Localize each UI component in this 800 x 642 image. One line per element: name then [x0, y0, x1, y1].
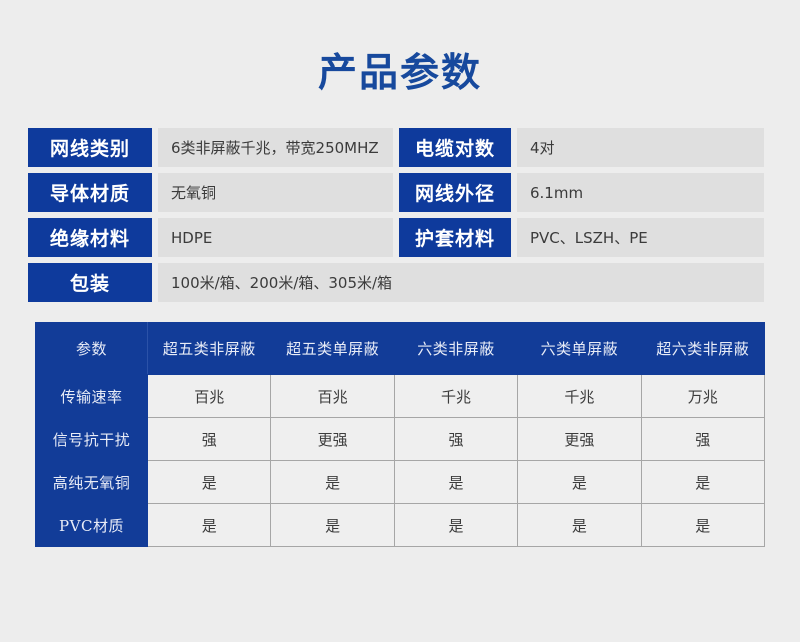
- table-row: 信号抗干扰 强 更强 强 更强 强: [36, 418, 765, 461]
- column-header-cat5e-ftp: 超五类单屏蔽: [271, 323, 394, 375]
- table-cell: 百兆: [148, 375, 271, 418]
- table-cell: 是: [271, 461, 394, 504]
- table-cell: 千兆: [394, 375, 517, 418]
- spec-label-conductor-material: 导体材质: [28, 173, 152, 212]
- comparison-table: 参数 超五类非屏蔽 超五类单屏蔽 六类非屏蔽 六类单屏蔽 超六类非屏蔽 传输速率…: [35, 322, 765, 547]
- spec-pair-left: 绝缘材料 HDPE: [28, 218, 393, 257]
- table-cell: 强: [394, 418, 517, 461]
- table-cell: 是: [394, 504, 517, 547]
- spec-label-jacket-material: 护套材料: [399, 218, 511, 257]
- spec-pair-right: 护套材料 PVC、LSZH、PE: [399, 218, 764, 257]
- table-cell: 是: [641, 461, 764, 504]
- table-cell: 更强: [271, 418, 394, 461]
- spec-label-pair-count: 电缆对数: [399, 128, 511, 167]
- column-header-parameter: 参数: [36, 323, 148, 375]
- table-row: 高纯无氧铜 是 是 是 是 是: [36, 461, 765, 504]
- spec-pair-right: 网线外径 6.1mm: [399, 173, 764, 212]
- table-row: 包装 100米/箱、200米/箱、305米/箱: [28, 263, 764, 302]
- column-header-cat6-utp: 六类非屏蔽: [394, 323, 517, 375]
- table-row: 传输速率 百兆 百兆 千兆 千兆 万兆: [36, 375, 765, 418]
- table-row: 绝缘材料 HDPE 护套材料 PVC、LSZH、PE: [28, 218, 764, 257]
- spec-value-insulation-material: HDPE: [158, 218, 393, 257]
- spec-value-jacket-material: PVC、LSZH、PE: [517, 218, 764, 257]
- table-cell: 是: [271, 504, 394, 547]
- table-cell: 更强: [518, 418, 641, 461]
- spec-label-packaging: 包装: [28, 263, 152, 302]
- spec-value-outer-diameter: 6.1mm: [517, 173, 764, 212]
- table-cell: 是: [518, 504, 641, 547]
- table-cell: 是: [148, 504, 271, 547]
- spec-label-outer-diameter: 网线外径: [399, 173, 511, 212]
- row-header-pvc-material: PVC材质: [36, 504, 148, 547]
- specification-table: 网线类别 6类非屏蔽千兆，带宽250MHZ 电缆对数 4对 导体材质 无氧铜 网…: [28, 128, 764, 302]
- column-header-cat6a-utp: 超六类非屏蔽: [641, 323, 764, 375]
- spec-value-cable-category: 6类非屏蔽千兆，带宽250MHZ: [158, 128, 393, 167]
- table-cell: 百兆: [271, 375, 394, 418]
- table-header-row: 参数 超五类非屏蔽 超五类单屏蔽 六类非屏蔽 六类单屏蔽 超六类非屏蔽: [36, 323, 765, 375]
- row-header-transmission-rate: 传输速率: [36, 375, 148, 418]
- table-row: PVC材质 是 是 是 是 是: [36, 504, 765, 547]
- spec-pair-left: 网线类别 6类非屏蔽千兆，带宽250MHZ: [28, 128, 393, 167]
- table-cell: 强: [148, 418, 271, 461]
- column-header-cat5e-utp: 超五类非屏蔽: [148, 323, 271, 375]
- spec-value-conductor-material: 无氧铜: [158, 173, 393, 212]
- column-header-cat6-ftp: 六类单屏蔽: [518, 323, 641, 375]
- table-row: 导体材质 无氧铜 网线外径 6.1mm: [28, 173, 764, 212]
- table-cell: 万兆: [641, 375, 764, 418]
- table-cell: 是: [394, 461, 517, 504]
- table-cell: 千兆: [518, 375, 641, 418]
- spec-value-packaging: 100米/箱、200米/箱、305米/箱: [158, 263, 764, 302]
- row-header-signal-interference: 信号抗干扰: [36, 418, 148, 461]
- spec-label-insulation-material: 绝缘材料: [28, 218, 152, 257]
- spec-label-cable-category: 网线类别: [28, 128, 152, 167]
- spec-pair-left: 导体材质 无氧铜: [28, 173, 393, 212]
- table-cell: 强: [641, 418, 764, 461]
- page-title: 产品参数: [0, 42, 800, 98]
- table-cell: 是: [641, 504, 764, 547]
- spec-pair-right: 电缆对数 4对: [399, 128, 764, 167]
- table-cell: 是: [518, 461, 641, 504]
- spec-value-pair-count: 4对: [517, 128, 764, 167]
- table-row: 网线类别 6类非屏蔽千兆，带宽250MHZ 电缆对数 4对: [28, 128, 764, 167]
- row-header-pure-oxygen-free-copper: 高纯无氧铜: [36, 461, 148, 504]
- table-cell: 是: [148, 461, 271, 504]
